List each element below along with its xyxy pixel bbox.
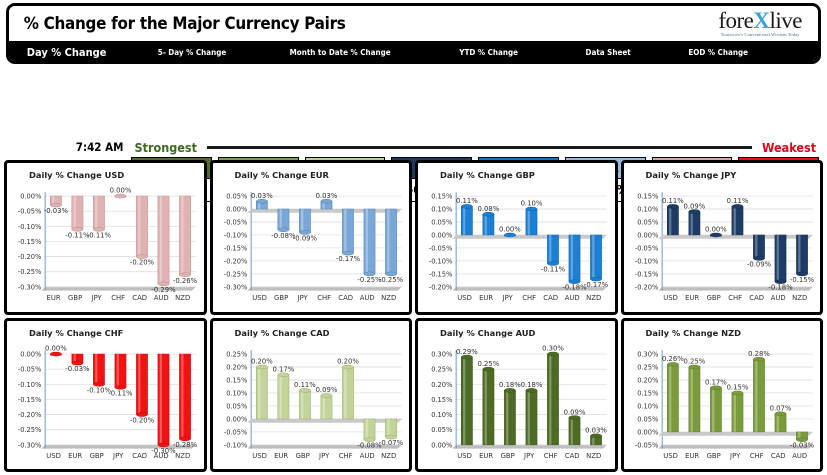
strength-divider-line (207, 146, 751, 149)
bar-eur (483, 212, 494, 235)
chart-floor (247, 287, 401, 291)
chart-panel-nzd: Daily % Change NZD0.30%0.25%0.20%0.15%0.… (621, 318, 824, 473)
chart-panel-eur: Daily % Change EUR0.05%0.00%-0.05%-0.10%… (210, 160, 413, 315)
bar-usd (256, 365, 267, 419)
y-axis-tick-label: 0.10% (431, 205, 452, 213)
bar-value-label: 0.11% (662, 197, 684, 205)
bar-value-label: 0.20% (337, 357, 359, 365)
y-axis-tick-label: 0.20% (431, 380, 452, 388)
y-axis-tick-label: -0.25% (223, 270, 247, 278)
x-axis-tick-label: USD (663, 294, 678, 302)
bar-chf (547, 352, 558, 445)
x-axis-tick-label: USD (457, 452, 472, 460)
y-axis-tick-label: -0.05% (634, 244, 658, 252)
tab-ytd-change[interactable]: YTD % Change (459, 48, 518, 57)
tab-month-to-date-change[interactable]: Month to Date % Change (289, 48, 390, 57)
x-axis-tick-label: CAD (338, 294, 353, 302)
bar-value-label: -0.18% (768, 284, 793, 292)
y-axis-tick-label: 0.10% (226, 389, 247, 397)
bar-aud (774, 235, 785, 284)
x-axis-tick-label: NZD (381, 452, 396, 460)
x-axis-tick-label: AUD (154, 452, 169, 460)
bar-jpy (731, 390, 742, 431)
y-axis-tick-label: 0.20% (637, 376, 658, 384)
y-axis-tick-label: -0.30% (18, 441, 42, 449)
x-axis-tick-label: JPY (318, 452, 330, 460)
bar-eur (50, 196, 61, 207)
chart-plot-area: 0.30%0.25%0.20%0.15%0.10%0.05%0.00%0.29%… (418, 337, 613, 470)
bar-value-label: 0.18% (499, 381, 521, 389)
y-axis-tick-label: 0.15% (431, 395, 452, 403)
y-axis-tick-label: -0.25% (18, 268, 42, 276)
bar-nzd (590, 235, 601, 281)
x-axis-tick-label: AUD (359, 452, 374, 460)
bar-usd (667, 204, 678, 235)
y-axis-tick-label: 0.10% (431, 411, 452, 419)
y-axis-tick-label: 0.00% (20, 350, 41, 358)
y-axis-tick-label: 0.05% (637, 415, 658, 423)
chart-floor (452, 444, 606, 448)
tab-eod-change[interactable]: EOD % Change (689, 48, 749, 57)
x-axis-tick-label: USD (663, 452, 678, 460)
chart-grid: Daily % Change USD0.00%-0.05%-0.10%-0.15… (4, 160, 823, 472)
bar-aud (363, 418, 374, 441)
bar-value-label: 0.03% (315, 192, 337, 200)
x-axis-tick-label: NZD (792, 294, 807, 302)
bar-gbp (277, 209, 288, 232)
bar-value-label: 0.10% (521, 200, 543, 208)
x-axis-tick-label: AUD (770, 294, 785, 302)
y-axis-tick-label: -0.05% (223, 428, 247, 436)
bar-aud (796, 431, 807, 441)
bar-value-label: 0.11% (294, 381, 316, 389)
y-axis-tick-label: 0.25% (431, 365, 452, 373)
bar-value-label: -0.07% (378, 439, 403, 447)
timestamp-label: 7:42 AM (59, 140, 124, 154)
bar-value-label: 0.00% (110, 187, 132, 195)
bar-cad (774, 411, 785, 431)
y-axis-tick-label: 0.00% (431, 441, 452, 449)
bar-chf (320, 199, 331, 209)
nav-tabs: Day % Change 5- Day % Change Month to Da… (9, 41, 818, 64)
bar-value-label: 0.28% (748, 349, 770, 357)
y-axis-tick-label: 0.30% (431, 350, 452, 358)
chart-panel-cad: Daily % Change CAD0.25%0.20%0.15%0.10%0.… (210, 318, 413, 473)
y-axis-tick-label: 0.25% (637, 363, 658, 371)
bar-nzd (590, 433, 601, 444)
y-axis-tick-label: -0.30% (18, 283, 42, 291)
y-axis-tick-label: -0.10% (634, 257, 658, 265)
bar-jpy (93, 196, 104, 231)
x-axis-tick-label: GBP (706, 294, 720, 302)
bar-value-label: 0.07% (769, 404, 791, 412)
chart-panel-usd: Daily % Change USD0.00%-0.05%-0.10%-0.15… (4, 160, 207, 315)
y-axis-tick-label: 0.00% (226, 205, 247, 213)
tab-day-change[interactable]: Day % Change (14, 46, 106, 59)
y-axis-tick-label: 0.05% (431, 218, 452, 226)
x-axis-tick-label: USD (46, 452, 61, 460)
y-axis-tick-label: 0.05% (637, 218, 658, 226)
bar-value-label: -0.20% (130, 416, 155, 424)
chart-plot-area: 0.25%0.20%0.15%0.10%0.05%0.00%-0.05%-0.1… (213, 337, 408, 470)
x-axis-tick-label: GBP (274, 294, 288, 302)
bar-value-label: -0.03% (44, 207, 69, 215)
y-axis-tick-label: 0.00% (431, 231, 452, 239)
x-axis-tick-label: EUR (479, 452, 493, 460)
y-axis-tick-label: -0.20% (634, 283, 658, 291)
y-axis-tick-label: 0.15% (637, 193, 658, 201)
chart-panel-gbp: Daily % Change GBP0.15%0.10%0.05%0.00%-0… (415, 160, 618, 315)
x-axis-tick-label: CAD (132, 452, 147, 460)
y-axis-tick-label: 0.00% (637, 231, 658, 239)
bar-value-label: -0.20% (130, 259, 155, 267)
x-axis-tick-label: JPY (502, 294, 514, 302)
chart-panel-jpy: Daily % Change JPY0.15%0.10%0.05%0.00%-0… (621, 160, 824, 315)
bar-gbp (504, 388, 515, 445)
strength-scale: Strongest Weakest (131, 139, 819, 155)
bar-aud (158, 354, 169, 447)
bar-value-label: -0.26% (173, 277, 198, 285)
y-axis-tick-label: -0.15% (634, 270, 658, 278)
bar-value-label: -0.03% (789, 441, 814, 449)
x-axis-tick-label: EUR (685, 294, 699, 302)
y-axis-tick-label: -0.30% (223, 283, 247, 291)
bar-eur (688, 210, 699, 235)
bar-eur (277, 372, 288, 418)
x-axis-tick-label: GBP (706, 452, 720, 460)
bar-value-label: 0.03% (585, 426, 607, 434)
bar-value-label: 0.29% (456, 347, 478, 355)
x-axis-tick-label: USD (252, 452, 267, 460)
bar-value-label: 0.09% (683, 202, 705, 210)
logo-tagline: Tomorrow's Conventional Wisdom Today (718, 33, 802, 37)
bar-value-label: -0.11% (87, 231, 112, 239)
x-axis-tick-label: CAD (749, 294, 764, 302)
bar-value-label: 0.09% (315, 386, 337, 394)
y-axis-tick-label: -0.05% (18, 365, 42, 373)
x-axis-tick-label: GBP (90, 452, 104, 460)
bar-value-label: -0.11% (108, 389, 133, 397)
zero-baseline (452, 235, 606, 239)
bar-cad (342, 209, 353, 255)
x-axis-tick-label: GBP (68, 294, 82, 302)
bar-value-label: 0.00% (45, 344, 67, 352)
y-axis-tick-label: -0.05% (634, 441, 658, 449)
y-axis-tick-label: 0.10% (637, 402, 658, 410)
bar-cad (753, 235, 764, 260)
x-axis-tick-label: NZD (586, 294, 601, 302)
x-axis-tick-label: NZD (175, 294, 190, 302)
y-axis-tick-label: -0.25% (18, 426, 42, 434)
zero-baseline (658, 235, 812, 239)
y-axis-tick-label: -0.15% (18, 395, 42, 403)
x-axis-tick-label: USD (457, 294, 472, 302)
bar-gbp (72, 196, 83, 231)
bar-usd (461, 204, 472, 235)
bar-value-label: 0.08% (478, 205, 500, 213)
chart-plot-area: 0.15%0.10%0.05%0.00%-0.05%-0.10%-0.15%-0… (624, 179, 819, 312)
bar-value-label: -0.15% (789, 276, 814, 284)
x-axis-tick-label: CHF (728, 294, 742, 302)
x-axis-tick-label: JPY (523, 452, 535, 460)
y-axis-tick-label: 0.15% (226, 376, 247, 384)
zero-baseline (658, 431, 812, 435)
bar-value-label: -0.28% (173, 440, 198, 448)
bar-value-label: 0.11% (726, 197, 748, 205)
zero-baseline (247, 418, 401, 422)
bar-value-label: 0.09% (564, 408, 586, 416)
tab-5day-change[interactable]: 5- Day % Change (157, 48, 225, 57)
x-axis-tick-label: CHF (111, 294, 125, 302)
y-axis-tick-label: 0.00% (226, 415, 247, 423)
y-axis-tick-label: -0.10% (223, 441, 247, 449)
bar-value-label: -0.17% (584, 281, 609, 289)
bar-cad (136, 354, 147, 417)
bar-value-label: 0.00% (705, 226, 727, 234)
bar-value-label: 0.15% (726, 383, 748, 391)
bar-value-label: 0.03% (251, 192, 273, 200)
x-axis-tick-label: EUR (479, 294, 493, 302)
bar-chf (526, 207, 537, 235)
zero-baseline (247, 209, 401, 213)
bar-value-label: 0.25% (683, 357, 705, 365)
x-axis-tick-label: CAD (132, 294, 147, 302)
forexlive-logo[interactable]: foreXlive Tomorrow's Conventional Wisdom… (718, 9, 818, 37)
bar-value-label: -0.25% (378, 276, 403, 284)
y-axis-tick-label: 0.15% (637, 389, 658, 397)
bar-usd (461, 355, 472, 445)
bar-nzd (179, 196, 190, 277)
x-axis-tick-label: AUD (359, 294, 374, 302)
logo-x-icon: X (753, 8, 769, 33)
y-axis-tick-label: 0.10% (637, 205, 658, 213)
bar-value-label: 0.26% (662, 355, 684, 363)
x-axis-tick-label: AUD (792, 452, 807, 460)
header-top-row: % Change for the Major Currency Pairs fo… (9, 6, 818, 41)
y-axis-tick-label: 0.05% (226, 402, 247, 410)
x-axis-tick-label: CHF (317, 294, 331, 302)
chart-panel-chf: Daily % Change CHF0.00%-0.05%-0.10%-0.15… (4, 318, 207, 473)
bar-value-label: 0.17% (705, 378, 727, 386)
x-axis-tick-label: USD (252, 294, 267, 302)
x-axis-tick-label: CAD (565, 452, 580, 460)
cumulative-changes-section: 7:42 AM Cumulative Changes Strongest Wea… (0, 66, 827, 158)
x-axis-tick-label: NZD (586, 452, 601, 460)
bar-eur (72, 354, 83, 365)
chart-plot-area: 0.30%0.25%0.20%0.15%0.10%0.05%0.00%-0.05… (624, 337, 819, 470)
y-axis-tick-label: -0.10% (18, 223, 42, 231)
logo-text-after: live (770, 8, 803, 33)
bar-aud (569, 235, 580, 284)
bar-chf (753, 357, 764, 432)
bar-eur (688, 365, 699, 432)
bar-value-label: -0.09% (292, 234, 317, 242)
y-axis-tick-label: -0.15% (429, 270, 453, 278)
bar-chf (731, 204, 742, 235)
bar-value-label: -0.03% (65, 365, 90, 373)
bar-chf (342, 365, 353, 419)
y-axis-tick-label: -0.15% (18, 238, 42, 246)
bar-value-label: 0.11% (456, 197, 478, 205)
bar-value-label: -0.17% (335, 255, 360, 263)
header-panel: % Change for the Major Currency Pairs fo… (6, 3, 821, 64)
x-axis-tick-label: EUR (68, 452, 82, 460)
y-axis-tick-label: -0.05% (223, 218, 247, 226)
logo-text-before: fore (718, 8, 753, 33)
bar-aud (158, 196, 169, 286)
y-axis-tick-label: -0.15% (223, 244, 247, 252)
y-axis-tick-label: -0.20% (429, 283, 453, 291)
x-axis-tick-label: CHF (338, 452, 352, 460)
bar-jpy (299, 209, 310, 234)
x-axis-tick-label: EUR (274, 452, 288, 460)
x-axis-tick-label: JPY (729, 452, 741, 460)
bar-cad (136, 196, 147, 259)
bar-eur (483, 367, 494, 445)
y-axis-tick-label: -0.20% (18, 253, 42, 261)
bar-usd (256, 199, 267, 209)
bar-value-label: 0.20% (251, 357, 273, 365)
bar-usd (667, 362, 678, 431)
y-axis-tick-label: 0.00% (637, 428, 658, 436)
strongest-label: Strongest (134, 140, 197, 155)
x-axis-tick-label: AUD (565, 294, 580, 302)
chart-plot-area: 0.00%-0.05%-0.10%-0.15%-0.20%-0.25%-0.30… (7, 179, 202, 312)
x-axis-tick-label: EUR (685, 452, 699, 460)
y-axis-tick-label: -0.10% (18, 380, 42, 388)
y-axis-tick-label: 0.15% (431, 193, 452, 201)
bar-gbp (93, 354, 104, 386)
x-axis-tick-label: CHF (544, 452, 558, 460)
bar-nzd (179, 354, 190, 441)
bar-value-label: -0.11% (541, 266, 566, 274)
chart-plot-area: 0.00%-0.05%-0.10%-0.15%-0.20%-0.25%-0.30… (7, 337, 202, 470)
y-axis-tick-label: -0.20% (223, 257, 247, 265)
bar-gbp (710, 385, 721, 431)
bar-gbp (299, 388, 310, 419)
logo-wordmark: foreXlive (718, 9, 802, 32)
bar-aud (363, 209, 374, 276)
bar-jpy (320, 393, 331, 418)
bar-value-label: 0.00% (499, 226, 521, 234)
y-axis-tick-label: -0.05% (429, 244, 453, 252)
y-axis-tick-label: -0.10% (223, 231, 247, 239)
chart-plot-area: 0.15%0.10%0.05%0.00%-0.05%-0.10%-0.15%-0… (418, 179, 613, 312)
chart-plot-area: 0.05%0.00%-0.05%-0.10%-0.15%-0.20%-0.25%… (213, 179, 408, 312)
x-axis-tick-label: CAD (770, 452, 785, 460)
y-axis-tick-label: -0.05% (18, 208, 42, 216)
x-axis-tick-label: NZD (381, 294, 396, 302)
chart-panel-aud: Daily % Change AUD0.30%0.25%0.20%0.15%0.… (415, 318, 618, 473)
y-axis-tick-label: -0.20% (18, 411, 42, 419)
bar-cad (569, 415, 580, 444)
bar-value-label: -0.29% (151, 286, 176, 294)
bar-value-label: 0.18% (521, 381, 543, 389)
x-axis-tick-label: GBP (501, 452, 515, 460)
x-axis-tick-label: EUR (47, 294, 61, 302)
page-title: % Change for the Major Currency Pairs (9, 14, 346, 33)
weakest-label: Weakest (762, 140, 816, 155)
x-axis-tick-label: GBP (295, 452, 309, 460)
bar-cad (547, 235, 558, 266)
bar-nzd (385, 418, 396, 438)
bar-value-label: 0.30% (542, 344, 564, 352)
currency-dashboard: % Change for the Major Currency Pairs fo… (0, 0, 827, 475)
x-axis-tick-label: JPY (112, 452, 124, 460)
y-axis-tick-label: 0.20% (226, 363, 247, 371)
bar-nzd (796, 235, 807, 276)
bar-value-label: 0.25% (478, 359, 500, 367)
x-axis-tick-label: JPY (91, 294, 103, 302)
bar-value-label: -0.09% (746, 260, 771, 268)
x-axis-tick-label: CHF (522, 294, 536, 302)
x-axis-tick-label: CAD (543, 294, 558, 302)
x-axis-tick-label: CHF (749, 452, 763, 460)
bar-jpy (115, 354, 126, 389)
bar-value-label: 0.17% (272, 365, 294, 373)
x-axis-tick-label: AUD (154, 294, 169, 302)
y-axis-tick-label: 0.05% (431, 426, 452, 434)
y-axis-tick-label: 0.05% (226, 193, 247, 201)
y-axis-tick-label: 0.00% (20, 193, 41, 201)
y-axis-tick-label: 0.30% (637, 350, 658, 358)
x-axis-tick-label: JPY (296, 294, 308, 302)
x-axis-tick-label: NZD (175, 452, 190, 460)
bar-nzd (385, 209, 396, 276)
y-axis-tick-label: 0.25% (226, 350, 247, 358)
tab-data-sheet[interactable]: Data Sheet (586, 48, 631, 57)
y-axis-tick-label: -0.10% (429, 257, 453, 265)
bar-jpy (526, 388, 537, 445)
